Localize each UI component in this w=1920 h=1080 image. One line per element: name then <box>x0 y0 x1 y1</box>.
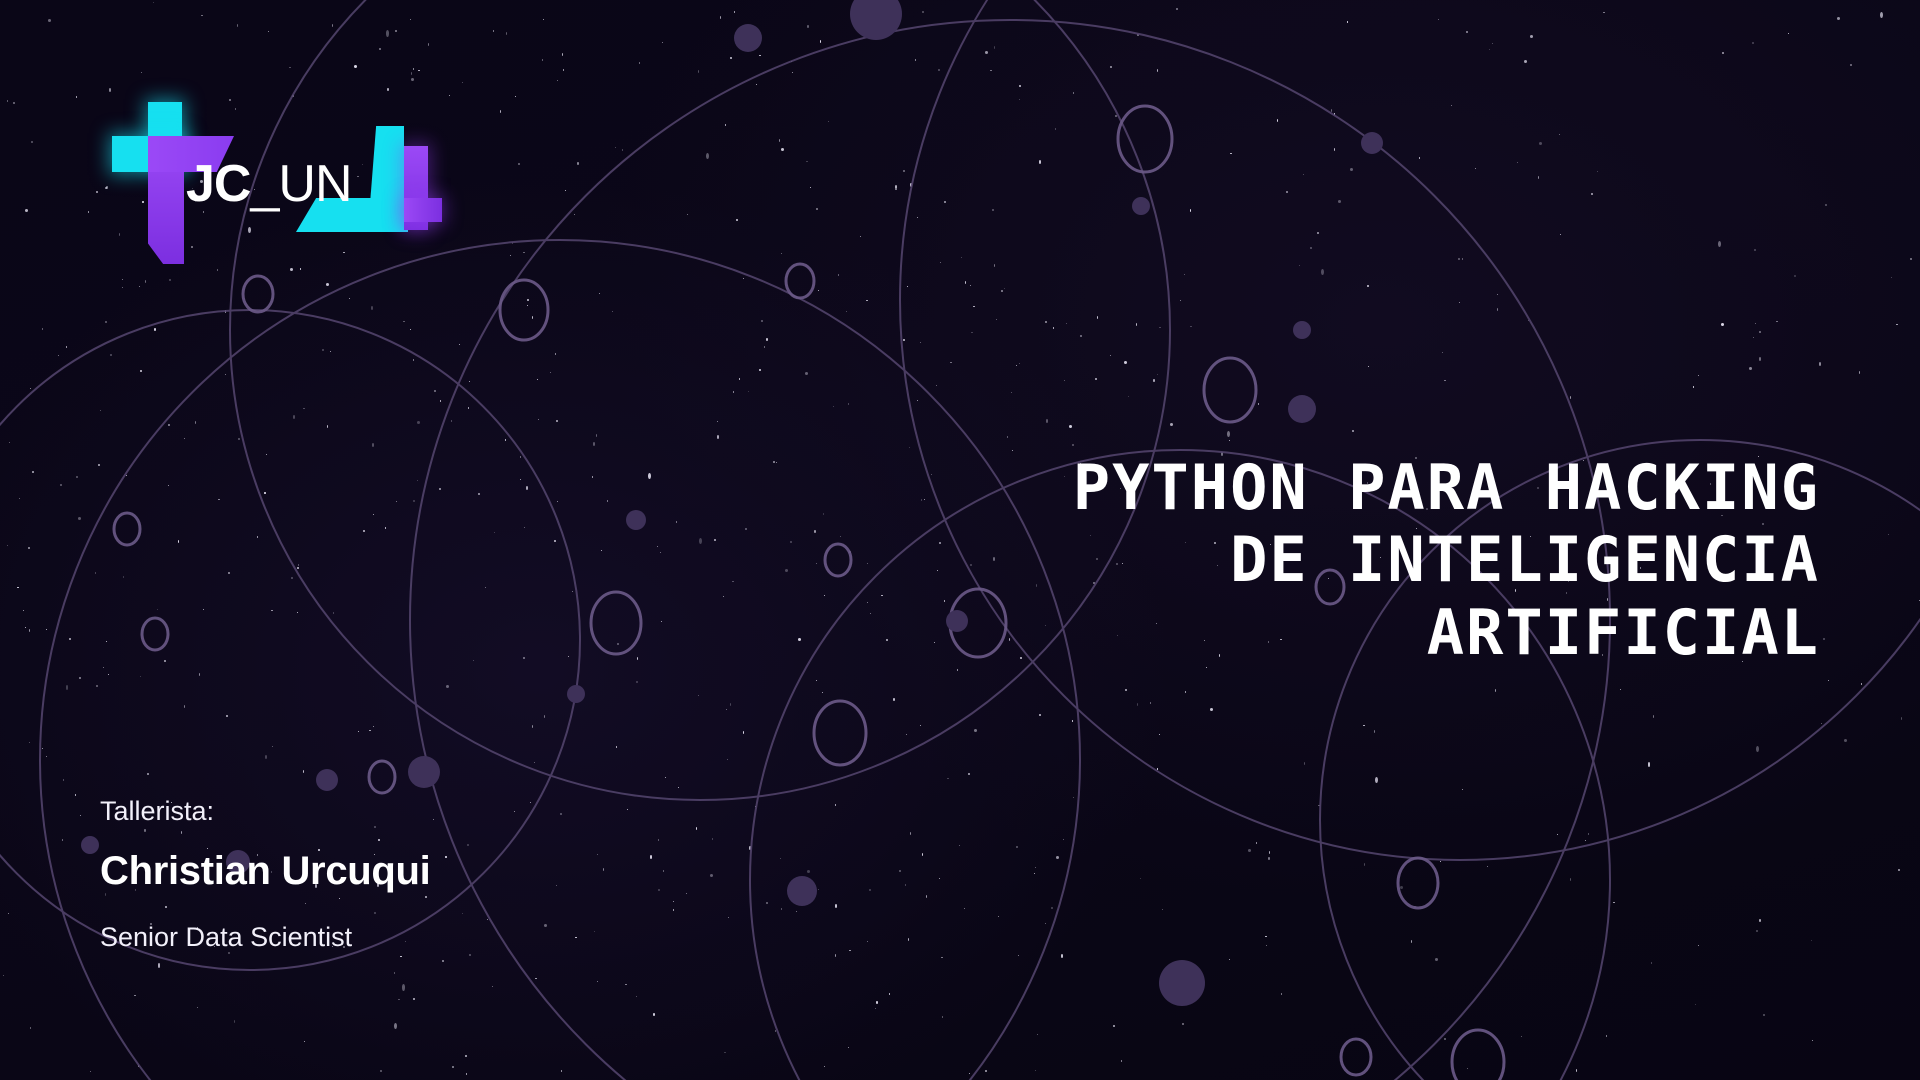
slide-title: PYTHON PARA HACKING DE INTELIGENCIA ARTI… <box>800 452 1820 670</box>
presenter-name: Christian Urcuqui <box>100 849 800 893</box>
presenter-role-label: Tallerista: <box>100 795 800 827</box>
logo-wordmark-bold: JC <box>186 155 250 213</box>
logo-arrow-purple-horizontal <box>404 198 442 222</box>
presenter-block: Tallerista: Christian Urcuqui Senior Dat… <box>100 795 800 954</box>
slide-title-line-1: PYTHON PARA HACKING <box>800 452 1820 525</box>
logo-wordmark-light: _UN <box>250 155 351 213</box>
slide-title-line-3: ARTIFICIAL <box>800 597 1820 670</box>
logo-arrow-cyan-vertical <box>370 126 404 204</box>
title-slide: JC_UN PYTHON PARA HACKING DE INTELIGENCI… <box>0 0 1920 1080</box>
slide-title-line-2: DE INTELIGENCIA <box>800 524 1820 597</box>
logo-wordmark: JC_UN <box>186 158 352 210</box>
presenter-job-title: Senior Data Scientist <box>100 921 800 953</box>
brand-logo[interactable]: JC_UN <box>96 84 466 274</box>
